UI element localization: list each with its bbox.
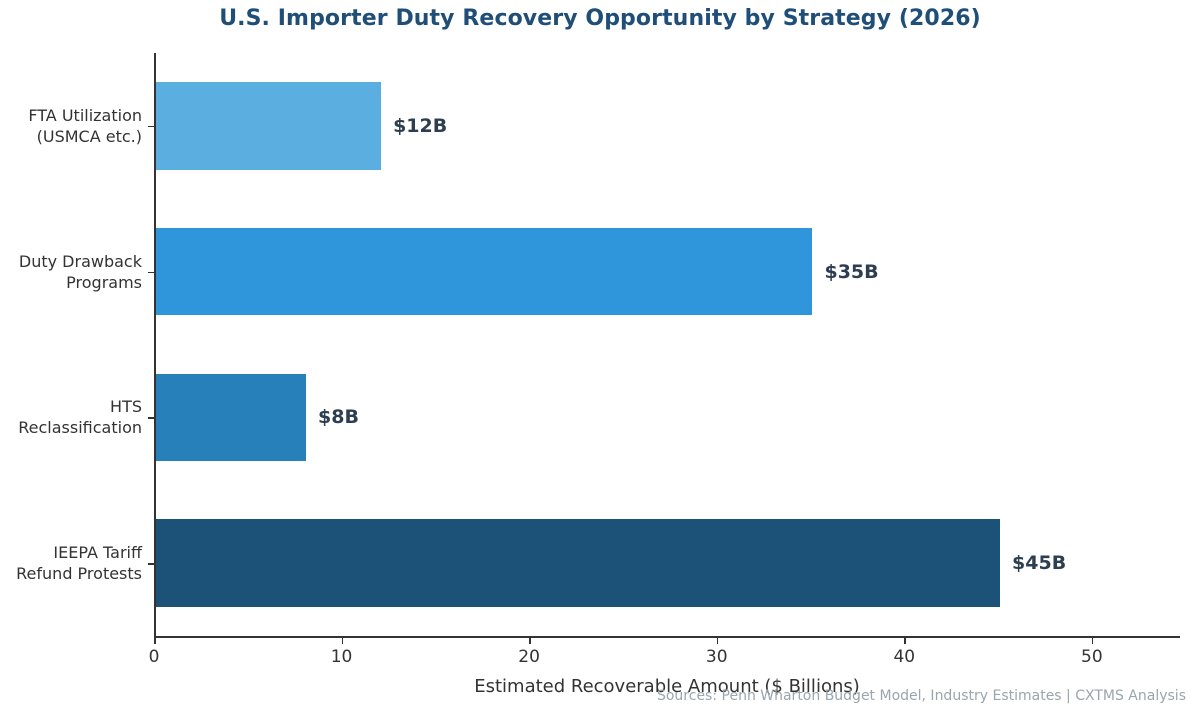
chart-title: U.S. Importer Duty Recovery Opportunity … xyxy=(0,6,1200,31)
bar-value-label: $45B xyxy=(1012,552,1066,574)
bar-value-label: $12B xyxy=(393,115,447,137)
y-axis-tick xyxy=(148,563,154,565)
x-axis-tick xyxy=(529,638,531,644)
y-axis-category-label: Duty Drawback Programs xyxy=(19,251,142,293)
y-axis-category-label: IEEPA Tariff Refund Protests xyxy=(16,542,142,584)
x-axis-tick-label: 0 xyxy=(149,647,160,667)
y-axis-category-label: HTS Reclassification xyxy=(18,396,142,438)
source-annotation: Sources: Penn Wharton Budget Model, Indu… xyxy=(657,688,1186,704)
x-axis-tick-label: 20 xyxy=(518,647,540,667)
bar-fta-utilization[interactable] xyxy=(156,82,381,169)
bar-hts-reclassification[interactable] xyxy=(156,374,306,461)
x-axis-spine xyxy=(154,636,1180,638)
x-axis-tick xyxy=(717,638,719,644)
x-axis-tick-label: 50 xyxy=(1081,647,1103,667)
x-axis-tick xyxy=(154,638,156,644)
x-axis-tick-label: 10 xyxy=(331,647,353,667)
y-axis-tick xyxy=(148,417,154,419)
x-axis-tick-label: 30 xyxy=(706,647,728,667)
y-axis-category-label: FTA Utilization (USMCA etc.) xyxy=(28,105,142,147)
x-axis-tick xyxy=(342,638,344,644)
x-axis-tick xyxy=(904,638,906,644)
plot-area: $12B $35B $8B $45B 0 10 20 30 40 50 xyxy=(154,53,1180,636)
bar-ieepa-tariff-refund-protests[interactable] xyxy=(156,519,1000,606)
x-axis-tick xyxy=(1092,638,1094,644)
bar-value-label: $8B xyxy=(318,406,359,428)
x-axis-tick-label: 40 xyxy=(893,647,915,667)
bar-duty-drawback-programs[interactable] xyxy=(156,228,812,315)
y-axis-tick xyxy=(148,272,154,274)
bar-value-label: $35B xyxy=(824,261,878,283)
y-axis-tick xyxy=(148,126,154,128)
